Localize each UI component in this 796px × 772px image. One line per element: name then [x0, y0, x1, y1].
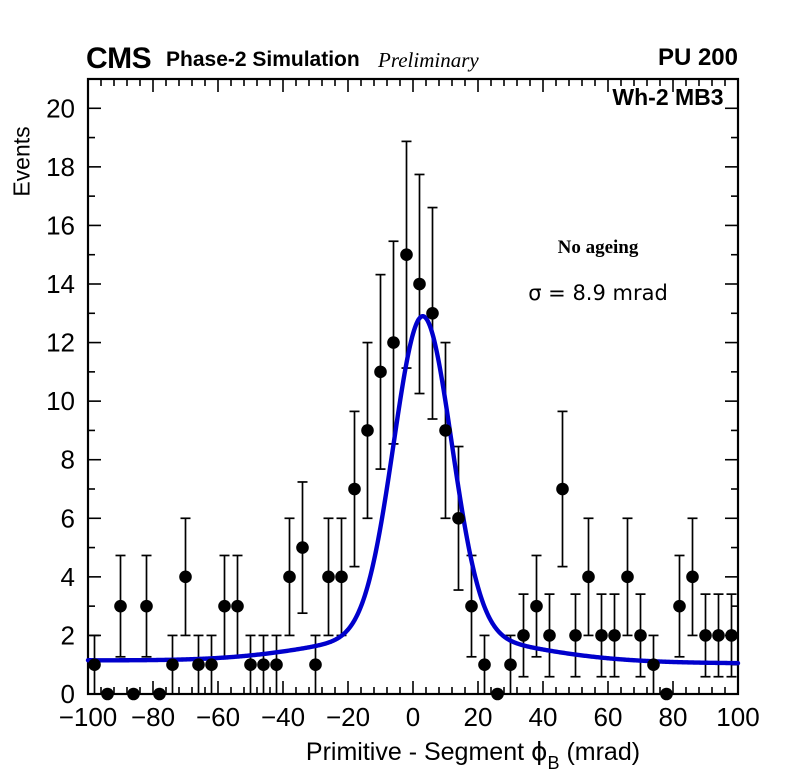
data-point [699, 629, 712, 642]
station-label: Wh-2 MB3 [612, 84, 723, 110]
x-tick-label: 0 [406, 702, 420, 732]
data-point [192, 658, 205, 671]
data-point [465, 600, 478, 613]
plot-canvas: CMS Phase-2 Simulation Preliminary PU 20… [0, 0, 796, 772]
data-point [725, 629, 738, 642]
data-point [595, 629, 608, 642]
x-axis-tick-labels: −100−80−60−40−20020406080100 [59, 702, 760, 732]
data-point [270, 658, 283, 671]
y-axis-tick-labels: 02468101214161820 [46, 93, 75, 709]
y-tick-label: 20 [46, 93, 75, 123]
x-tick-label: 80 [659, 702, 688, 732]
data-point [712, 629, 725, 642]
y-tick-label: 10 [46, 386, 75, 416]
data-point [127, 688, 140, 701]
data-point [517, 629, 530, 642]
x-tick-label: 20 [464, 702, 493, 732]
data-point [608, 629, 621, 642]
data-point [582, 571, 595, 584]
data-point [322, 571, 335, 584]
data-point [361, 424, 374, 437]
x-axis-title: Primitive - Segment ϕB (mrad) [306, 737, 640, 772]
data-point [556, 483, 569, 496]
x-tick-label: 60 [594, 702, 623, 732]
data-point [452, 512, 465, 525]
data-point [426, 307, 439, 320]
data-point [647, 658, 660, 671]
ageing-label: No ageing [558, 237, 639, 258]
data-errorbars [90, 141, 737, 694]
data-point [348, 483, 361, 496]
x-tick-label: 100 [716, 702, 759, 732]
data-point [218, 600, 231, 613]
data-point [621, 571, 634, 584]
data-point [257, 658, 270, 671]
y-tick-label: 14 [46, 269, 75, 299]
data-point [543, 629, 556, 642]
data-point [504, 658, 517, 671]
x-tick-label: −80 [131, 702, 175, 732]
data-point [179, 571, 192, 584]
data-point [166, 658, 179, 671]
data-point [387, 336, 400, 349]
data-point [244, 658, 257, 671]
data-point [140, 600, 153, 613]
y-tick-label: 8 [61, 445, 75, 475]
data-point [569, 629, 582, 642]
data-point [478, 658, 491, 671]
sigma-label: σ = 8.9 mrad [528, 281, 668, 305]
x-tick-label: −20 [326, 702, 370, 732]
data-point [205, 658, 218, 671]
data-point [153, 688, 166, 701]
data-point [283, 571, 296, 584]
scatter-plot-svg: −100−80−60−40−20020406080100 02468101214… [0, 0, 796, 772]
data-point [231, 600, 244, 613]
data-point [114, 600, 127, 613]
x-tick-label: −60 [196, 702, 240, 732]
x-axis-label: Primitive - Segment ϕB (mrad) [306, 737, 640, 772]
data-point [88, 658, 101, 671]
data-point [335, 571, 348, 584]
data-point [491, 688, 504, 701]
data-point [400, 248, 413, 261]
data-point [686, 571, 699, 584]
data-point [530, 600, 543, 613]
y-tick-label: 12 [46, 328, 75, 358]
data-point [634, 629, 647, 642]
y-tick-label: 18 [46, 152, 75, 182]
in-plot-annotations: Wh-2 MB3No ageingσ = 8.9 mrad [528, 84, 723, 305]
data-point [309, 658, 322, 671]
data-point [374, 366, 387, 379]
data-point [439, 424, 452, 437]
x-tick-label: −40 [261, 702, 305, 732]
data-point [673, 600, 686, 613]
y-tick-label: 4 [61, 562, 75, 592]
data-point [296, 541, 309, 554]
data-point [660, 688, 673, 701]
y-tick-label: 0 [61, 679, 75, 709]
y-tick-label: 2 [61, 620, 75, 650]
y-tick-label: 16 [46, 210, 75, 240]
data-point [101, 688, 114, 701]
y-tick-label: 6 [61, 503, 75, 533]
data-point [413, 278, 426, 291]
x-tick-label: 40 [529, 702, 558, 732]
